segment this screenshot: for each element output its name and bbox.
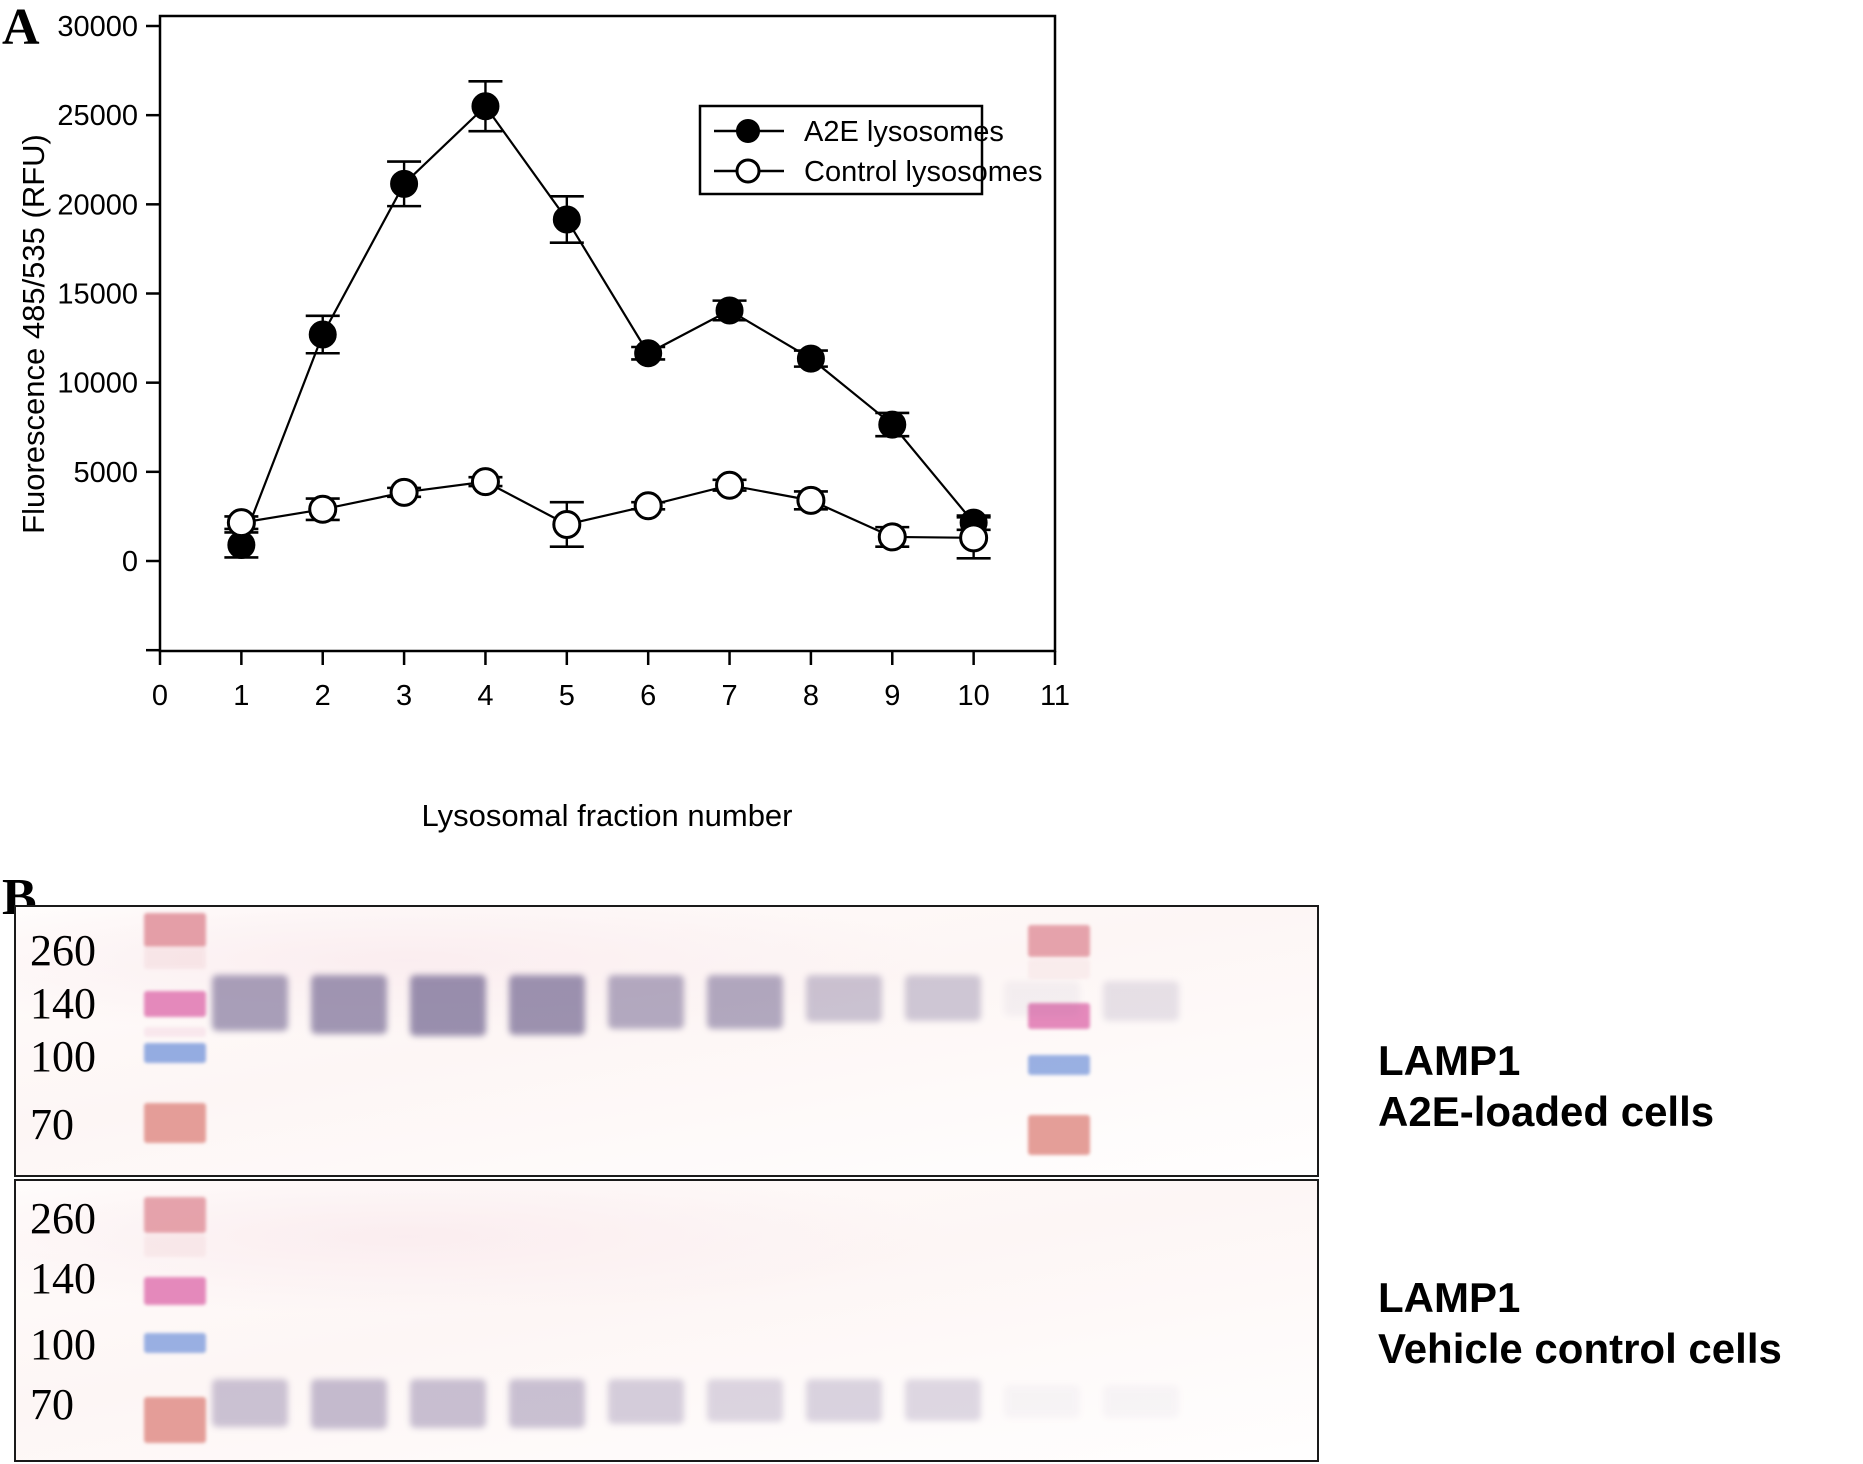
data-point-open <box>635 493 661 519</box>
data-point-filled <box>310 322 336 348</box>
blot-label-a2e-loaded: LAMP1 A2E-loaded cells <box>1378 1035 1714 1137</box>
y-axis-tick-label: 25000 <box>57 100 138 132</box>
blot-label-line1: LAMP1 <box>1378 1272 1782 1323</box>
ladder-band <box>144 1397 206 1443</box>
mw-marker-labels-upper: 26014010070 <box>24 907 134 1175</box>
ladder-band <box>144 991 206 1017</box>
blot-label-line2: Vehicle control cells <box>1378 1323 1782 1374</box>
protein-ladder-left-upper <box>144 907 206 1175</box>
data-point-open <box>798 487 824 513</box>
y-axis-tick-label: 30000 <box>57 11 138 43</box>
lane-band <box>905 975 981 1021</box>
y-axis-tick-label: 0 <box>122 546 138 578</box>
legend-label: A2E lysosomes <box>804 116 1004 148</box>
y-axis-tick-label: 15000 <box>57 279 138 311</box>
mw-marker-label: 140 <box>30 1257 96 1301</box>
data-point-filled <box>635 340 661 366</box>
lane-band <box>311 1379 387 1429</box>
mw-marker-label: 70 <box>30 1383 74 1427</box>
ladder-band <box>144 1197 206 1233</box>
x-axis-tick-label: 0 <box>152 680 168 712</box>
legend-marker-filled <box>737 120 759 142</box>
blot-label-line2: A2E-loaded cells <box>1378 1086 1714 1137</box>
x-axis-tick-label: 9 <box>884 680 900 712</box>
lane-band <box>212 975 288 1031</box>
lane-band <box>1004 1385 1080 1418</box>
data-point-open <box>717 472 743 498</box>
y-axis-tick-label: 20000 <box>57 189 138 221</box>
ladder-band <box>1028 1055 1090 1075</box>
data-point-filled <box>879 412 905 438</box>
data-point-open <box>554 511 580 537</box>
lane-band <box>806 975 882 1022</box>
ladder-band <box>144 1103 206 1143</box>
y-axis: 050001000015000200002500030000 <box>57 11 160 650</box>
ladder-band <box>144 1027 206 1037</box>
x-axis-tick-label: 8 <box>803 680 819 712</box>
ladder-band <box>1028 959 1090 979</box>
blot-label-vehicle-control: LAMP1 Vehicle control cells <box>1378 1272 1782 1374</box>
x-axis-tick-label: 2 <box>315 680 331 712</box>
lane-band <box>509 1379 585 1428</box>
lane-band <box>410 975 486 1036</box>
ladder-band <box>144 1277 206 1305</box>
protein-ladder-left-lower <box>144 1181 206 1460</box>
lane-band <box>410 1379 486 1428</box>
ladder-band <box>1028 925 1090 957</box>
x-axis: 01234567891011 <box>152 651 1070 712</box>
lane-band <box>905 1379 981 1421</box>
x-axis-tick-label: 7 <box>721 680 737 712</box>
ladder-band <box>144 1333 206 1353</box>
x-axis-tick-label: 3 <box>396 680 412 712</box>
lane-band <box>212 1379 288 1427</box>
data-point-open <box>879 524 905 550</box>
lane-band <box>707 1379 783 1422</box>
blot-image-vehicle-control: 26014010070 <box>14 1179 1319 1462</box>
line-chart: 050001000015000200002500030000 012345678… <box>0 0 1290 860</box>
data-point-open <box>391 479 417 505</box>
lane-band <box>608 975 684 1029</box>
lane-band <box>1103 1385 1179 1418</box>
lane-band <box>707 975 783 1029</box>
x-axis-tick-label: 4 <box>477 680 493 712</box>
mw-marker-labels-lower: 26014010070 <box>24 1181 134 1460</box>
blot-image-a2e-loaded: 26014010070 <box>14 905 1319 1177</box>
figure-root: A 050001000015000200002500030000 0123456… <box>0 0 1863 1464</box>
y-axis-tick-label: 10000 <box>57 368 138 400</box>
ladder-band <box>144 913 206 947</box>
lane-band <box>608 1379 684 1424</box>
y-axis-title: Fluorescence 485/535 (RFU) <box>16 134 51 534</box>
lane-band <box>1004 981 1080 1016</box>
data-point-open <box>961 525 987 551</box>
data-point-filled <box>391 171 417 197</box>
ladder-band <box>144 1043 206 1063</box>
mw-marker-label: 100 <box>30 1035 96 1079</box>
ladder-band <box>1028 1115 1090 1155</box>
data-point-filled <box>472 93 498 119</box>
data-point-filled <box>798 346 824 372</box>
x-axis-tick-label: 1 <box>233 680 249 712</box>
legend-marker-open <box>737 160 759 182</box>
x-axis-tick-label: 6 <box>640 680 656 712</box>
mw-marker-label: 260 <box>30 1197 96 1241</box>
mw-marker-label: 70 <box>30 1103 74 1147</box>
x-axis-tick-label: 5 <box>559 680 575 712</box>
data-point-open <box>310 496 336 522</box>
mw-marker-label: 260 <box>30 929 96 973</box>
lane-band <box>1103 981 1179 1021</box>
data-point-open <box>472 469 498 495</box>
legend-label: Control lysosomes <box>804 156 1043 188</box>
x-axis-tick-label: 10 <box>958 680 990 712</box>
panel-a-chart: 050001000015000200002500030000 012345678… <box>0 0 1290 860</box>
protein-ladder-right-upper <box>1028 907 1090 1175</box>
ladder-band <box>144 1235 206 1257</box>
x-axis-title: Lysosomal fraction number <box>421 798 792 833</box>
x-axis-tick-label: 11 <box>1040 680 1070 712</box>
data-point-filled <box>717 297 743 323</box>
blot-film-background <box>16 907 1317 1175</box>
mw-marker-label: 100 <box>30 1323 96 1367</box>
blot-label-line1: LAMP1 <box>1378 1035 1714 1086</box>
mw-marker-label: 140 <box>30 982 96 1026</box>
panel-b-blots: 26014010070 26014010070 <box>0 905 1863 1464</box>
lane-band <box>509 975 585 1035</box>
data-point-filled <box>554 206 580 232</box>
lane-band <box>806 1379 882 1422</box>
ladder-band <box>144 947 206 969</box>
lane-band <box>311 975 387 1034</box>
data-point-open <box>228 510 254 536</box>
y-axis-tick-label: 5000 <box>73 457 138 489</box>
